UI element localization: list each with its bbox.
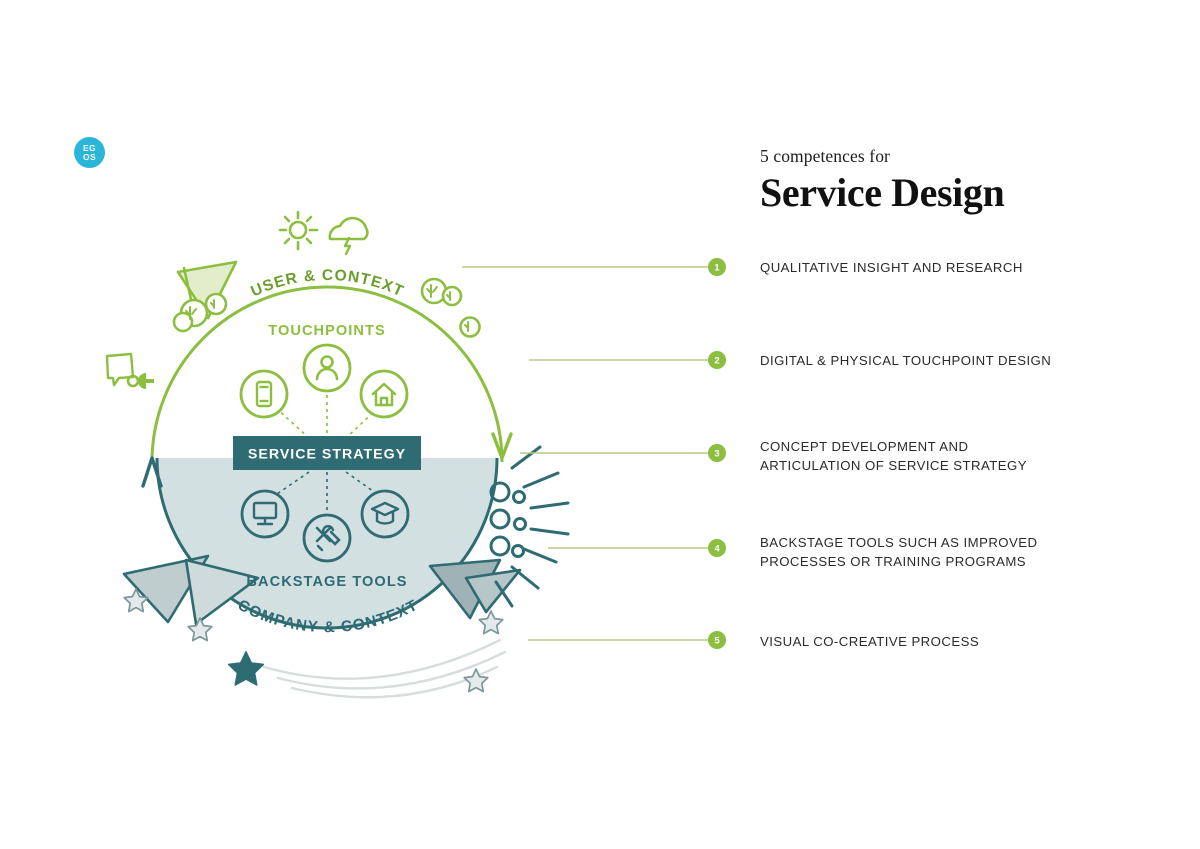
bubble-cluster-icon xyxy=(491,483,526,557)
flag-foliage-left xyxy=(174,262,236,331)
sun-icon xyxy=(280,212,317,249)
zone-label-touchpoints: TOUCHPOINTS xyxy=(268,323,386,339)
person-small-icon xyxy=(128,373,154,389)
bush-right-icon xyxy=(422,279,480,337)
backstage-icon-graduation[interactable] xyxy=(362,491,408,537)
service-strategy-box[interactable]: SERVICE STRATEGY xyxy=(233,436,421,470)
badge-number: 1 xyxy=(714,263,720,274)
badge-number: 2 xyxy=(714,356,719,367)
competence-badge-4[interactable]: 4 xyxy=(708,539,726,557)
service-strategy-label: SERVICE STRATEGY xyxy=(248,447,406,463)
touchpoint-icon-person[interactable] xyxy=(304,345,350,391)
competence-badge-1[interactable]: 1 xyxy=(708,258,726,276)
pennant-flags-right xyxy=(430,560,520,618)
zone-label-backstage: BACKSTAGE TOOLS xyxy=(246,574,407,590)
competence-badge-5[interactable]: 5 xyxy=(708,631,726,649)
badge-number: 5 xyxy=(714,636,720,647)
star-outline-icon xyxy=(188,618,212,641)
service-design-diagram: USER & CONTEXT COMPANY & CONTEXT TOUCHPO… xyxy=(0,0,1200,849)
backstage-icon-tools[interactable] xyxy=(304,515,350,561)
star-outline-icon xyxy=(479,611,503,634)
touchpoint-icon-mobile[interactable] xyxy=(241,371,287,417)
backstage-icon-monitor[interactable] xyxy=(242,491,288,537)
cloud-lightning-icon xyxy=(330,218,368,254)
touchpoint-icon-house[interactable] xyxy=(361,371,407,417)
star-filled-icon xyxy=(229,652,264,685)
competence-badge-3[interactable]: 3 xyxy=(708,444,726,462)
badge-number: 4 xyxy=(714,544,720,555)
competence-badge-2[interactable]: 2 xyxy=(708,351,726,369)
badge-number: 3 xyxy=(714,449,719,460)
